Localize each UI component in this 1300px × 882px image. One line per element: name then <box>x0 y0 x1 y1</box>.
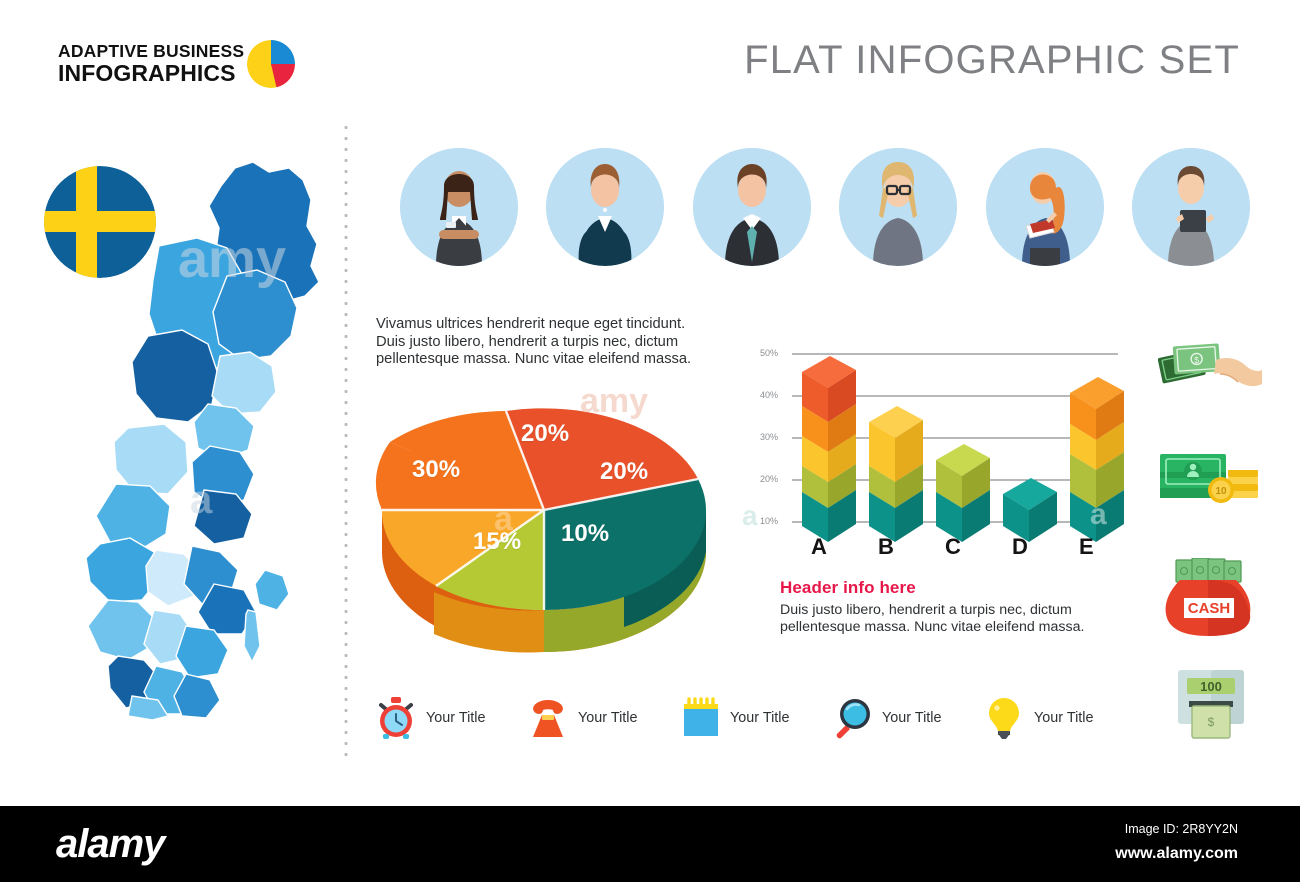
cash-bag-label: CASH <box>1188 600 1231 617</box>
watermark-footer-bar <box>0 806 1300 882</box>
pie-label-2: 10% <box>561 520 609 548</box>
legend-label-calendar: Your Title <box>730 710 789 726</box>
image-id-label: Image ID: 2R8YY2N <box>1125 822 1238 836</box>
cash-bag-icon[interactable]: CASH <box>1158 558 1264 640</box>
magnifier-icon <box>830 695 874 741</box>
atm-amount-label: 100 <box>1200 679 1222 694</box>
atm-machine-icon[interactable]: 100 $ <box>1158 668 1264 744</box>
ytick-10: 10% <box>752 516 778 526</box>
sweden-flag-icon <box>44 166 156 278</box>
brand-logo: ADAPTIVE BUSINESS INFOGRAPHICS <box>58 42 244 85</box>
logo-line-1: ADAPTIVE BUSINESS <box>58 42 244 61</box>
ytick-30: 30% <box>752 432 778 442</box>
legend-item-clock[interactable]: Your Title <box>374 692 526 744</box>
svg-text:$: $ <box>1208 715 1215 729</box>
bar-A <box>802 356 856 542</box>
header-info-block: Header info here Duis justo libero, hend… <box>780 578 1140 636</box>
header-info-title: Header info here <box>780 578 1140 598</box>
ytick-40: 40% <box>752 390 778 400</box>
legend-label-clock: Your Title <box>426 710 485 726</box>
bar-chart: 50% 40% 30% 20% 10% A B C D E <box>752 330 1142 565</box>
avatar-businesswoman-glasses[interactable] <box>839 148 957 266</box>
bar-B <box>869 406 923 542</box>
pie-label-0: 20% <box>521 420 569 448</box>
bar-E <box>1070 377 1124 542</box>
ytick-20: 20% <box>752 474 778 484</box>
xlabel-B: B <box>878 534 894 560</box>
pie-label-4: 30% <box>412 456 460 484</box>
avatar-businesswoman-tablet[interactable] <box>1132 148 1250 266</box>
intro-paragraph: Vivamus ultrices hendrerit neque eget ti… <box>376 316 712 369</box>
coin-value-label: 10 <box>1215 486 1227 497</box>
alamy-url-label: www.alamy.com <box>1115 845 1238 863</box>
svg-text:$: $ <box>1194 355 1200 365</box>
xlabel-E: E <box>1079 534 1094 560</box>
xlabel-D: D <box>1012 534 1028 560</box>
icon-legend-row: Your Title Your Title <box>374 692 1134 744</box>
avatar-businesswoman-hands-hips[interactable] <box>546 148 664 266</box>
legend-label-lightbulb: Your Title <box>1034 710 1093 726</box>
xlabel-A: A <box>811 534 827 560</box>
lightbulb-icon <box>982 695 1026 741</box>
pie-chart: 20% 20% 10% 15% 30% <box>374 380 714 655</box>
page-title: FLAT INFOGRAPHIC SET <box>744 38 1240 83</box>
legend-label-phone: Your Title <box>578 710 637 726</box>
pie-label-1: 20% <box>600 458 648 486</box>
bar-D <box>1003 478 1057 542</box>
legend-label-magnifier: Your Title <box>882 710 941 726</box>
legend-item-lightbulb[interactable]: Your Title <box>982 692 1134 744</box>
telephone-icon <box>526 695 570 741</box>
legend-item-magnifier[interactable]: Your Title <box>830 692 982 744</box>
header-info-body: Duis justo libero, hendrerit a turpis ne… <box>780 602 1140 636</box>
avatar-businesswoman-arms-crossed[interactable] <box>400 148 518 266</box>
calendar-icon <box>678 695 722 741</box>
avatar-businesswoman-notebook[interactable] <box>986 148 1104 266</box>
bar-C <box>936 444 990 542</box>
hand-holding-cash-icon[interactable]: $ <box>1158 330 1264 408</box>
pie-label-3: 15% <box>473 528 521 556</box>
xlabel-C: C <box>945 534 961 560</box>
infographic-canvas: ADAPTIVE BUSINESS INFOGRAPHICS FLAT INFO… <box>0 0 1300 882</box>
avatar-businessman-suit-tie[interactable] <box>693 148 811 266</box>
alamy-logo: alamy <box>56 822 164 867</box>
alarm-clock-icon <box>374 695 418 741</box>
pie-logo-icon <box>247 40 295 88</box>
legend-item-phone[interactable]: Your Title <box>526 692 678 744</box>
logo-line-2: INFOGRAPHICS <box>58 61 244 85</box>
legend-item-calendar[interactable]: Your Title <box>678 692 830 744</box>
avatar-row <box>400 148 1250 278</box>
ytick-50: 50% <box>752 348 778 358</box>
banknote-coins-icon[interactable]: 10 <box>1158 444 1264 522</box>
